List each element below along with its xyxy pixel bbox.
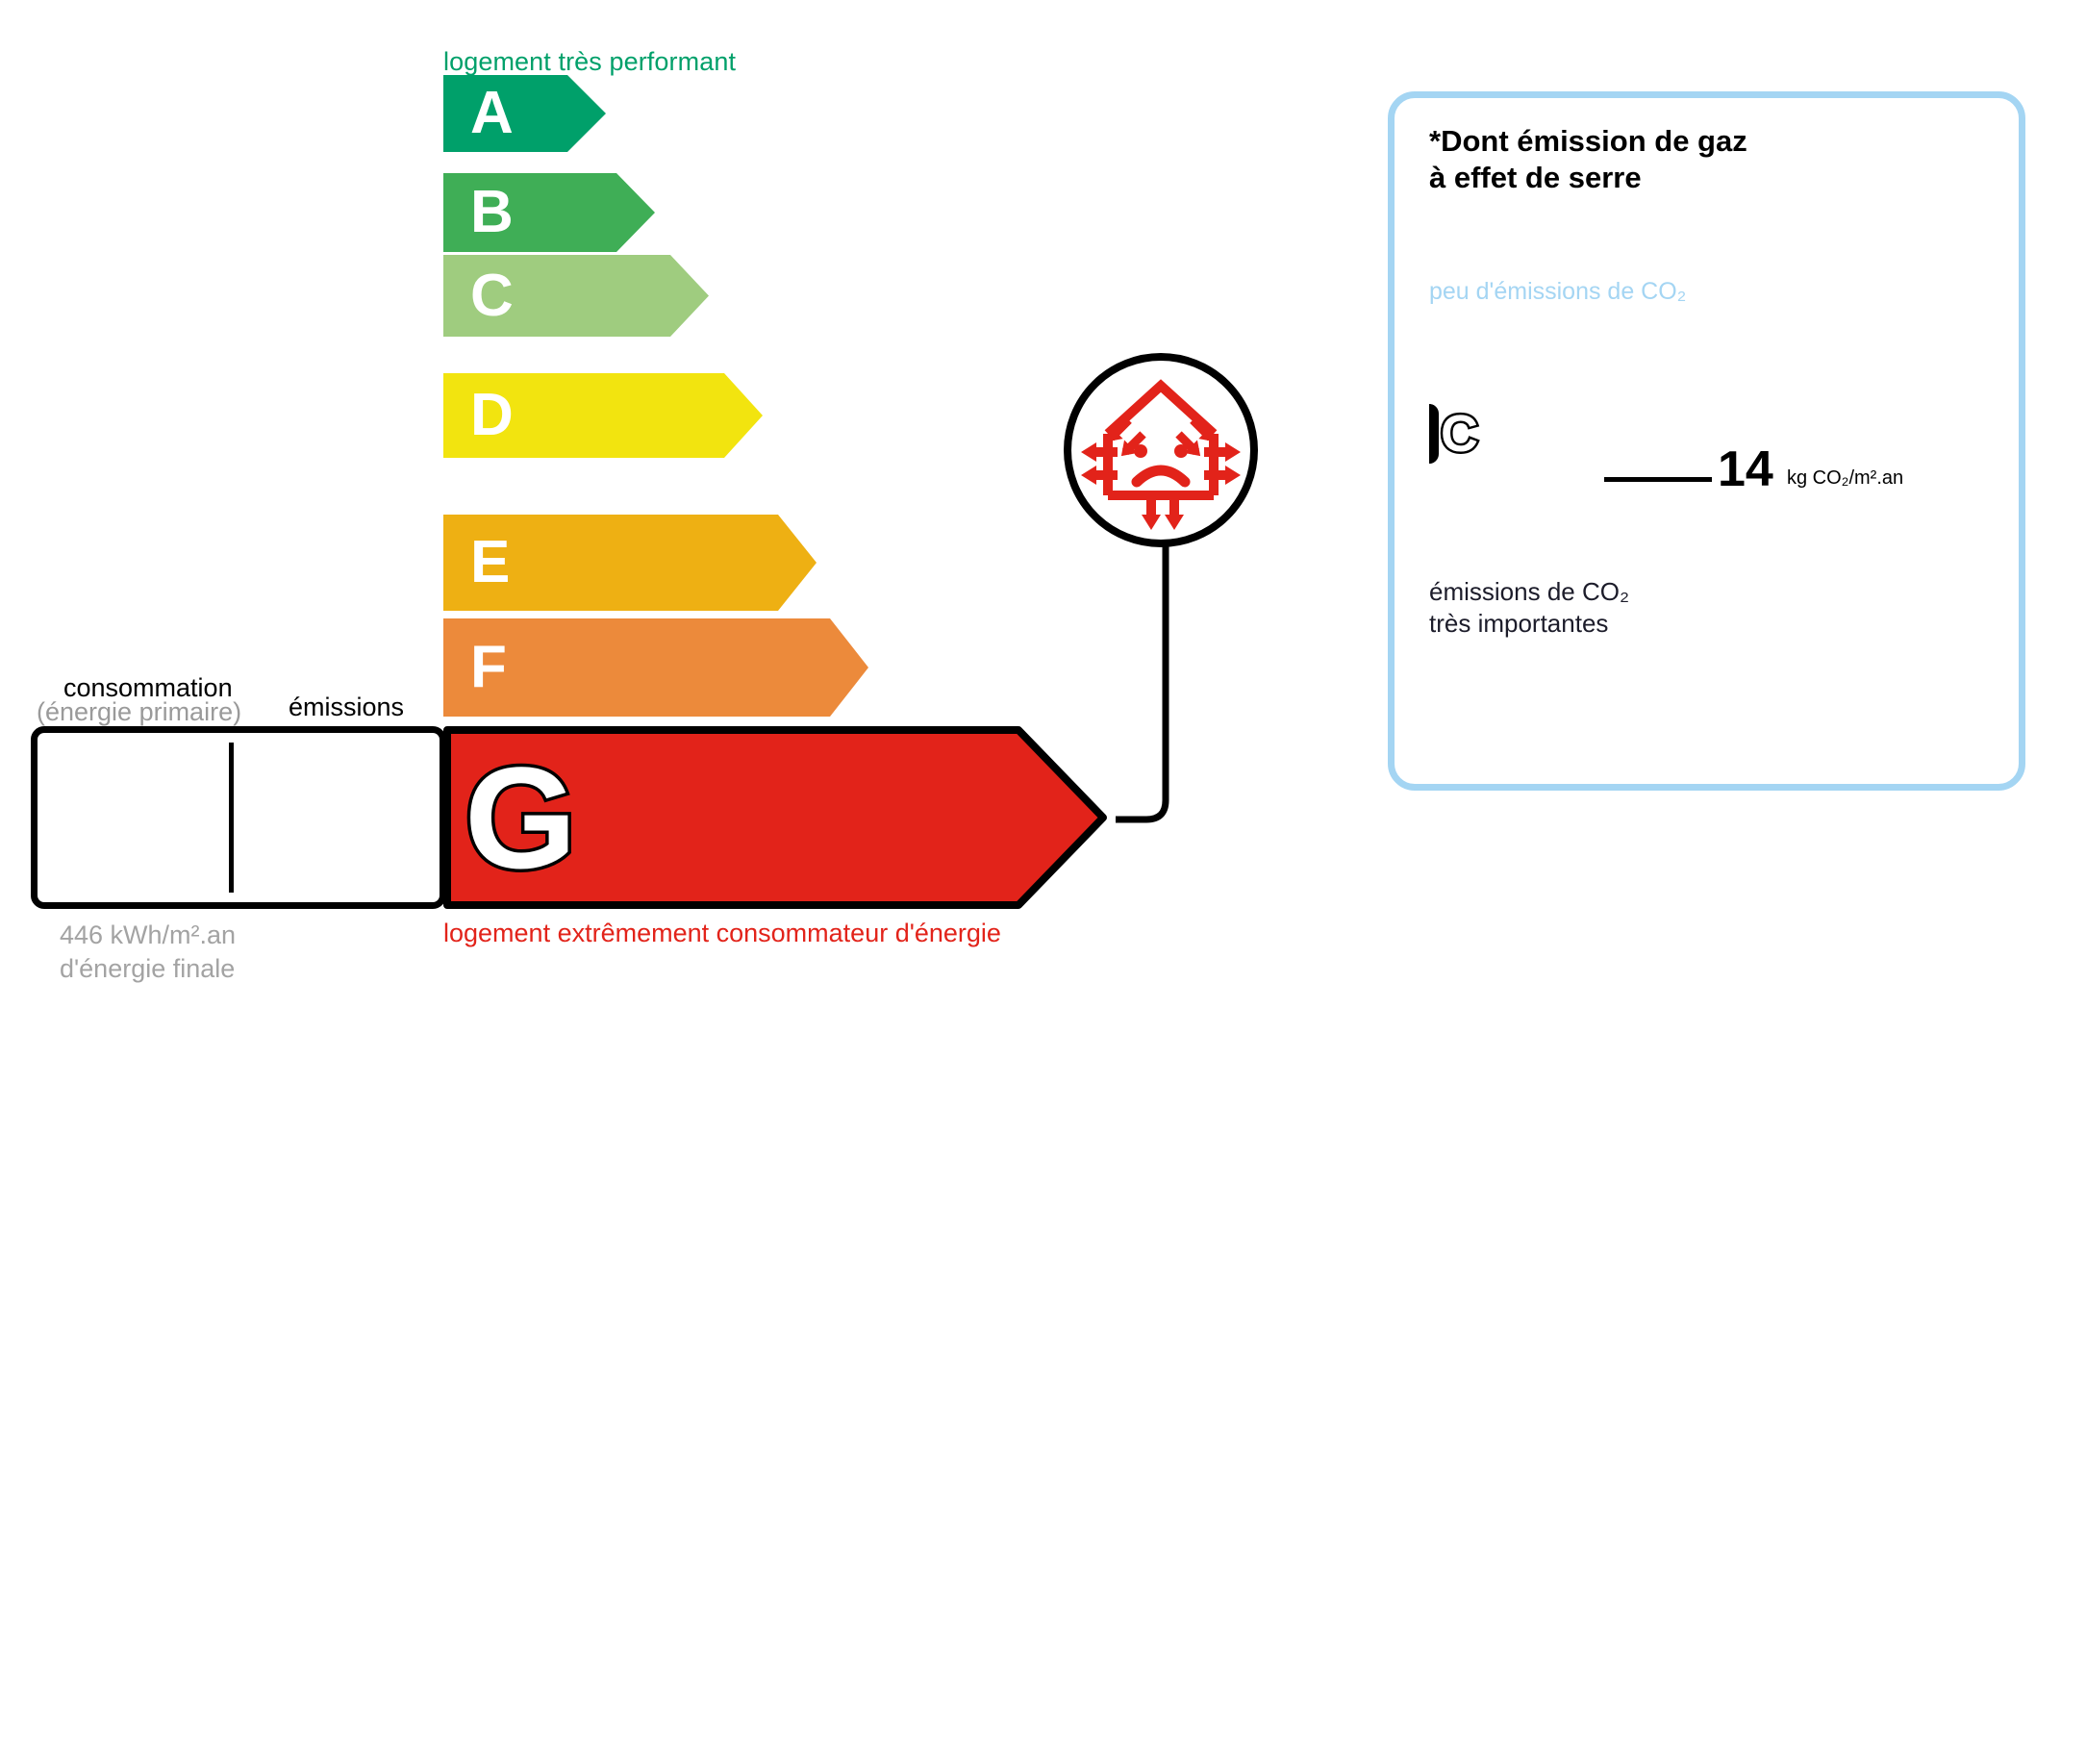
header-consumption-sub: (énergie primaire) — [37, 697, 241, 727]
co2-row-b[interactable]: B — [1429, 356, 1535, 396]
energy-performance-chart: logement très performant A B C — [0, 0, 1250, 1038]
co2-letter-a: A — [1439, 315, 1463, 348]
badge-connector-line — [1116, 539, 1231, 827]
co2-letter-e: E — [1439, 528, 1461, 561]
sad-house-badge — [1062, 351, 1260, 549]
grade-bar-a — [443, 75, 606, 152]
co2-top-label: peu d'émissions de CO₂ — [1429, 278, 1686, 306]
top-caption: logement très performant — [443, 47, 736, 77]
co2-row-d[interactable]: D — [1429, 475, 1617, 516]
co2-title-line1: *Dont émission de gaz — [1429, 123, 1747, 160]
co2-value-unit: kg CO₂/m².an — [1787, 467, 1903, 490]
co2-letter-d: D — [1439, 479, 1463, 512]
co2-bottom-line2: très importantes — [1429, 608, 1629, 640]
co2-leader-line — [1604, 477, 1712, 482]
co2-row-a[interactable]: A — [1429, 314, 1502, 350]
grade-row-g-selected[interactable]: G — [443, 726, 1107, 909]
value-box — [31, 726, 446, 909]
grade-letter-d: D — [470, 386, 514, 445]
grade-letter-f: F — [470, 638, 507, 697]
co2-panel-title: *Dont émission de gaz à effet de serre — [1429, 123, 1747, 196]
co2-bottom-label: émissions de CO₂ très importantes — [1429, 576, 1629, 639]
grade-letter-b: B — [470, 183, 514, 242]
final-energy-line1: 446 kWh/m².an — [60, 919, 236, 952]
final-energy-footnote: 446 kWh/m².an d'énergie finale — [60, 919, 236, 985]
co2-letter-b: B — [1439, 360, 1463, 392]
co2-title-line2: à effet de serre — [1429, 160, 1747, 196]
grade-row-d[interactable]: D — [443, 373, 763, 458]
grade-letter-c: C — [470, 266, 514, 326]
final-energy-line2: d'énergie finale — [60, 952, 236, 986]
co2-value: 14 — [1718, 444, 1773, 494]
co2-emissions-panel: *Dont émission de gaz à effet de serre p… — [1388, 91, 2025, 791]
grade-row-c[interactable]: C — [443, 255, 709, 337]
grade-bar-f — [443, 618, 868, 717]
co2-row-c-selected[interactable]: C 14 kg CO₂/m².an — [1429, 404, 1578, 464]
co2-letter-c: C — [1441, 408, 1478, 460]
co2-row-e[interactable]: E — [1429, 524, 1649, 565]
grade-row-b[interactable]: B — [443, 173, 655, 252]
grade-letter-e: E — [470, 533, 510, 592]
grade-row-e[interactable]: E — [443, 515, 817, 611]
grade-row-a[interactable]: A — [443, 75, 606, 152]
bottom-caption: logement extrêmement consommateur d'éner… — [443, 919, 1001, 948]
header-emissions: émissions — [289, 693, 404, 722]
co2-bar-c — [1429, 404, 1439, 464]
grade-letter-a: A — [470, 84, 514, 143]
grade-letter-g: G — [465, 745, 577, 890]
grade-row-f[interactable]: F — [443, 618, 868, 717]
value-box-divider — [229, 743, 234, 893]
co2-bottom-line1: émissions de CO₂ — [1429, 576, 1629, 608]
